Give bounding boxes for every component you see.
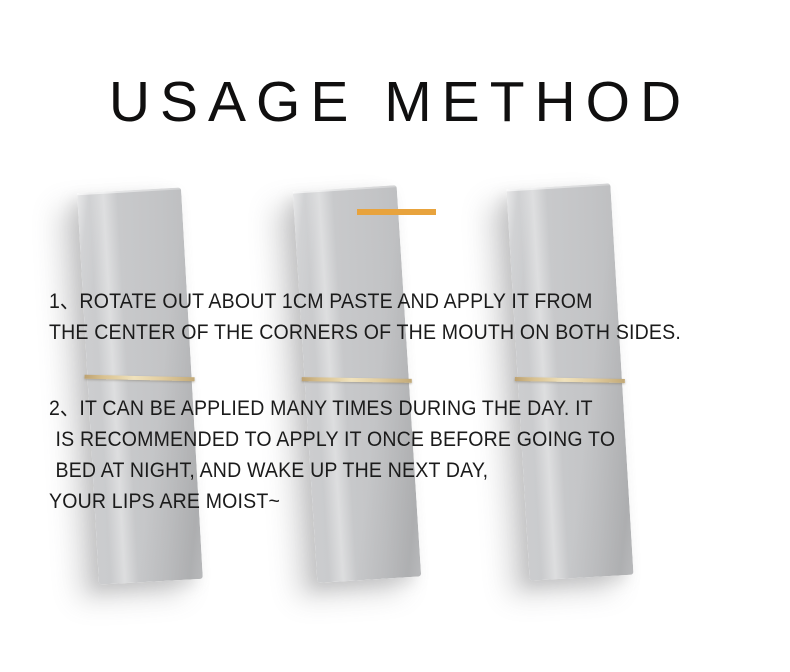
text-layer: USAGE METHOD 1、ROTATE OUT ABOUT 1CM PAST… [0, 0, 790, 672]
instruction-line: IS RECOMMENDED TO APPLY IT ONCE BEFORE G… [49, 424, 728, 455]
instruction-item-1: 1、ROTATE OUT ABOUT 1CM PASTE AND APPLY I… [49, 286, 728, 348]
instruction-text: IT CAN BE APPLIED MANY TIMES DURING THE … [79, 397, 592, 420]
instruction-line: YOUR LIPS ARE MOIST~ [49, 486, 728, 517]
instruction-marker: 2、 [49, 397, 79, 420]
instruction-line: THE CENTER OF THE CORNERS OF THE MOUTH O… [49, 317, 728, 348]
instruction-item-2: 2、IT CAN BE APPLIED MANY TIMES DURING TH… [49, 393, 728, 517]
instructions-block: 1、ROTATE OUT ABOUT 1CM PASTE AND APPLY I… [49, 286, 728, 517]
page-title: USAGE METHOD [0, 74, 790, 131]
instruction-line: BED AT NIGHT, AND WAKE UP THE NEXT DAY, [49, 455, 728, 486]
instruction-line: 1、ROTATE OUT ABOUT 1CM PASTE AND APPLY I… [49, 286, 728, 317]
instruction-line: 2、IT CAN BE APPLIED MANY TIMES DURING TH… [49, 393, 728, 424]
instruction-marker: 1、 [49, 290, 79, 313]
instruction-text: ROTATE OUT ABOUT 1CM PASTE AND APPLY IT … [79, 290, 592, 313]
usage-method-banner: USAGE METHOD 1、ROTATE OUT ABOUT 1CM PAST… [0, 0, 790, 672]
